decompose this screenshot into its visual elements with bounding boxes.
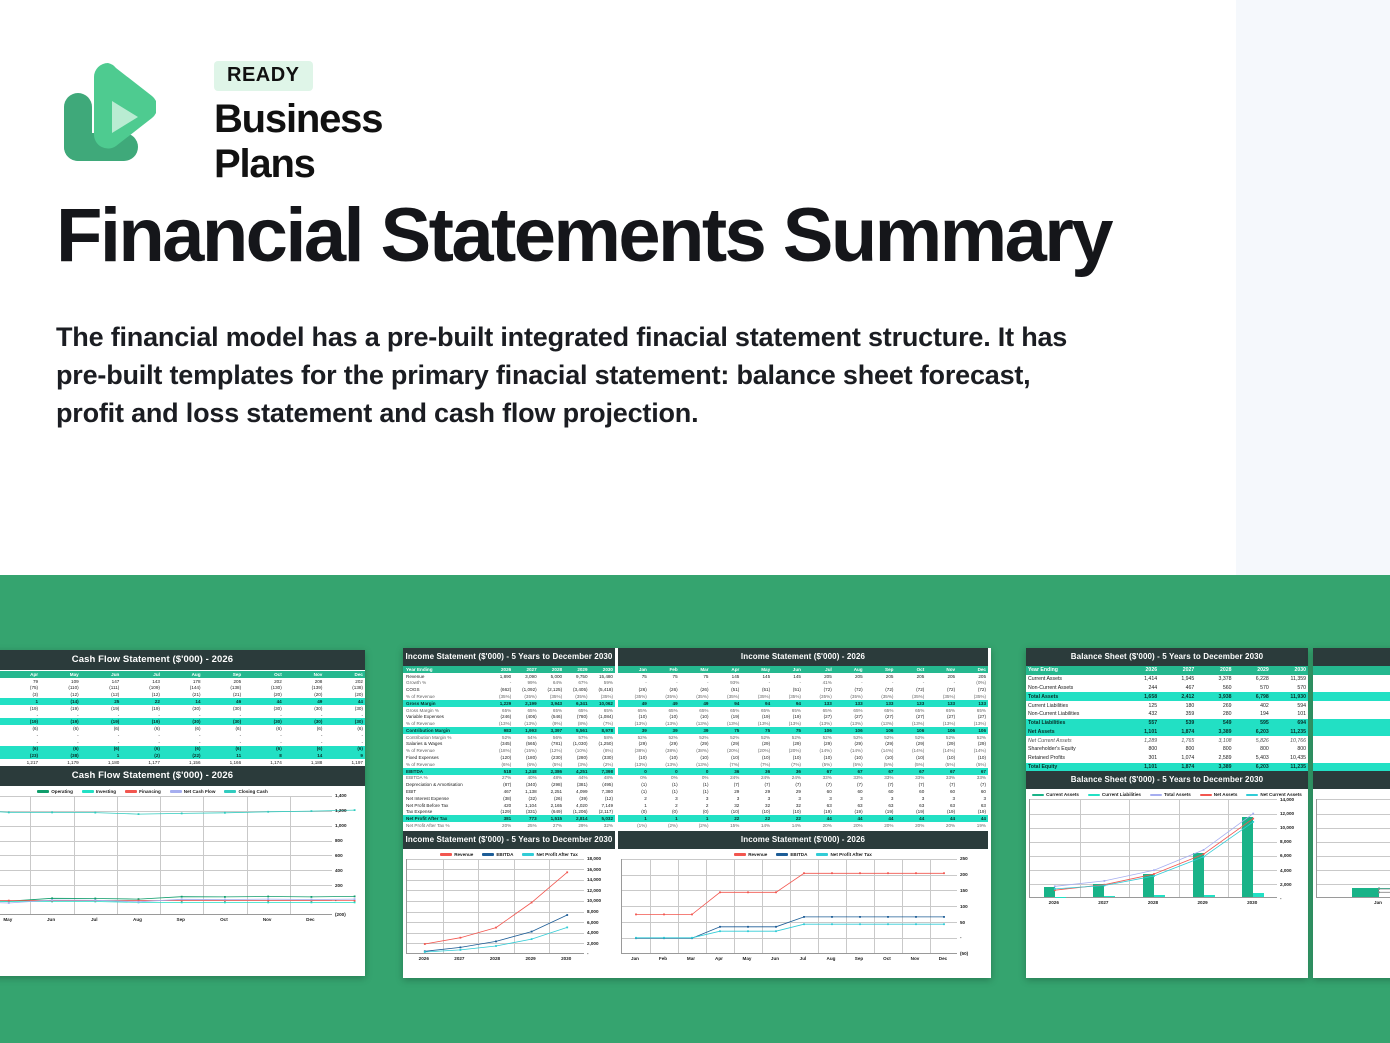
table-cell: 32% xyxy=(590,822,615,829)
table-cell: 3,108 xyxy=(1196,736,1233,745)
row-label: EBIT xyxy=(403,788,488,795)
table-row[interactable]: (10)(10)(10)(19)(19)(19)(27)(27)(27)(27)… xyxy=(618,713,988,720)
row-label: % of Revenue xyxy=(403,720,488,727)
table-cell: 29 xyxy=(710,788,741,795)
y-axis-tick-label: 200 xyxy=(335,883,343,888)
y-axis-tick-label: 2,000 xyxy=(1280,882,1292,887)
legend-swatch xyxy=(82,790,94,793)
table-cell: 67 xyxy=(865,768,896,775)
table-cell: 570 xyxy=(1271,684,1308,693)
table-row[interactable]: (19)(19)(19)(19)(30)(30)(30)(30)(30)(30) xyxy=(0,705,365,712)
table-cell: (0%) xyxy=(957,680,988,687)
row-label: Variable Expenses xyxy=(403,713,488,720)
table-cell: (3,405) xyxy=(564,686,589,693)
chart-marker xyxy=(138,813,140,815)
x-axis-tick-label: Jun xyxy=(761,956,789,961)
legend-label: EBITDA xyxy=(496,852,513,857)
table-cell: - xyxy=(243,739,284,746)
table-row[interactable]: 799798 xyxy=(1313,727,1390,736)
table-row[interactable]: 494949949494133133133133133133 xyxy=(618,700,988,707)
table-cell: 56% xyxy=(539,734,564,741)
y-axis-tick-label: 12,000 xyxy=(1280,811,1294,816)
table-cell: 6,203 xyxy=(1234,763,1271,772)
table-row[interactable]: 1836 xyxy=(1313,684,1390,693)
table-row[interactable]: Net Interest Expense(38)(32)(26)(39)(12) xyxy=(403,795,615,802)
table-cell: (1) xyxy=(680,788,711,795)
row-label: % of Revenue xyxy=(403,761,488,768)
table-row[interactable]: 1,2171,1791,1801,1771,1561,1661,1741,188… xyxy=(0,759,365,766)
column-header: 2029 xyxy=(564,666,589,673)
table-cell: 60 xyxy=(957,788,988,795)
column-header: Sep xyxy=(203,671,244,678)
table-row[interactable]: 52%52%52%52%52%52%52%52%52%52%52%52% xyxy=(618,734,988,741)
table-row[interactable]: Revenue1,8903,0905,0009,75015,480 xyxy=(403,673,615,680)
table-row[interactable]: Net Current Assets1,2891,7653,1085,82610… xyxy=(1026,736,1308,745)
table-row[interactable]: Net Profit After Tax3817731,5152,8145,03… xyxy=(403,815,615,822)
chart-marker xyxy=(747,930,749,932)
table-cell: 205 xyxy=(957,673,988,680)
table-cell: 65% xyxy=(513,707,538,714)
table-row[interactable]: % of Revenue(13%)(13%)(9%)(8%)(7%) xyxy=(403,720,615,727)
table-cell: 10,435 xyxy=(1271,754,1308,763)
table-cell: 63 xyxy=(957,802,988,809)
sheet-title: Cash Flow Statement ($'000) - 2026 xyxy=(0,650,365,670)
table-cell: - xyxy=(40,739,81,746)
table-cell: 65% xyxy=(834,707,865,714)
table-row[interactable]: 1,3411,323 xyxy=(1313,675,1390,684)
table-cell: - xyxy=(81,739,122,746)
table-cell: 20% xyxy=(803,822,834,829)
chart[interactable]: 14,00012,00010,0008,0006,0004,0002,000-2… xyxy=(1029,799,1303,917)
table-cell: (180) xyxy=(513,754,538,761)
legend-label: Net Cash Flow xyxy=(184,789,216,794)
table-cell: (1) xyxy=(1313,754,1390,763)
table-cell: (1) xyxy=(680,781,711,788)
table-row[interactable]: Total Liabilities557539549595694 xyxy=(1026,719,1308,728)
table-cell: 44 xyxy=(834,815,865,822)
table-row[interactable]: EBITDA %27%40%48%44%48% xyxy=(403,775,615,782)
row-label: Retained Profits xyxy=(1026,754,1122,763)
table-row[interactable]: Net Assets1,1011,8743,3896,20311,235 xyxy=(1026,727,1308,736)
chart-series-layer xyxy=(622,859,958,954)
chart-marker xyxy=(859,923,861,925)
table-cell: (0) xyxy=(649,808,680,815)
table-cell: (7) xyxy=(741,781,772,788)
chart-marker xyxy=(803,916,805,918)
table-row[interactable]: Growth %-99%64%67%59% xyxy=(403,680,615,687)
table-cell: 22 xyxy=(710,815,741,822)
table-row[interactable]: 233333333333 xyxy=(618,795,988,802)
legend-swatch xyxy=(37,790,49,793)
table-row[interactable]: (26)(26)(26)(51)(51)(51)(72)(72)(72)(72)… xyxy=(618,686,988,693)
table-row[interactable]: 122323232636363636363 xyxy=(618,802,988,809)
table-cell: 3 xyxy=(649,795,680,802)
brand-logo-block: READY Business Plans xyxy=(56,55,476,163)
row-label: Depreciation & Amortisation xyxy=(403,781,488,788)
table-cell: (780) xyxy=(564,713,589,720)
table-row[interactable]: (3)(12)(12)(12)(21)(21)(20)(20)(20)(19) xyxy=(0,691,365,698)
chart-marker xyxy=(495,926,497,928)
table-cell: (10) xyxy=(710,808,741,815)
table-row[interactable]: % of Revenue(35%)(35%)(35%)(35%)(35%) xyxy=(403,693,615,700)
table-row[interactable]: 65%65%65%65%65%65%65%65%65%65%65%65% xyxy=(618,707,988,714)
table-row[interactable]: 111222222444444444444 xyxy=(618,815,988,822)
sheet-title: Balance Sheet ($'000) - 2026 xyxy=(1313,648,1390,666)
table-cell: 94 xyxy=(710,700,741,707)
table-cell: 75 xyxy=(649,673,680,680)
table-cell: 1,188 xyxy=(284,759,325,766)
table-cell: - xyxy=(649,680,680,687)
table-row[interactable]: EBIT4671,1382,2514,0997,380 xyxy=(403,788,615,795)
financial-table[interactable]: Year Ending20262027202820292030Revenue1,… xyxy=(403,666,615,829)
table-cell: 44 xyxy=(895,815,926,822)
table-cell: (7) xyxy=(926,781,957,788)
table-cell: (6) xyxy=(121,746,162,753)
table-row[interactable]: Total Assets1,6582,4123,9386,79811,930 xyxy=(1026,692,1308,701)
table-row[interactable]: (10)(10)(10)(10)(10)(10)(10)(10)(10)(10)… xyxy=(618,754,988,761)
table-row[interactable]: Tax Expense(129)(331)(649)(1,206)(2,117) xyxy=(403,808,615,815)
table-cell: 180 xyxy=(1159,701,1196,710)
table-row[interactable]: Shareholder's Equity800800800800800 xyxy=(1026,745,1308,754)
table-row[interactable]: 000363636676767676767 xyxy=(618,768,988,775)
table-cell: (29) xyxy=(926,741,957,748)
table-row[interactable]: % of Revenue(18%)(15%)(12%)(10%)(8%) xyxy=(403,747,615,754)
chart-marker xyxy=(495,945,497,947)
table-cell: (35%) xyxy=(649,693,680,700)
table-cell: 49 xyxy=(649,700,680,707)
table-cell: 39 xyxy=(680,727,711,734)
chart-marker xyxy=(8,902,10,904)
table-cell: 205 xyxy=(895,673,926,680)
table-row[interactable]: Variable Expenses(246)(406)(546)(780)(1,… xyxy=(403,713,615,720)
table-cell: (781) xyxy=(539,741,564,748)
table-row[interactable]: ---------- xyxy=(0,739,365,746)
table-cell: 0% xyxy=(680,775,711,782)
table-cell: (6) xyxy=(324,746,365,753)
y-axis-tick-label: 10,000 xyxy=(1280,825,1294,830)
x-axis-tick-label: Dec xyxy=(289,917,332,922)
table-cell: (22) xyxy=(162,752,203,759)
table-cell: - xyxy=(40,732,81,739)
table-cell: (30) xyxy=(203,705,244,712)
table-row[interactable]: 757575145145145205205205205205205 xyxy=(618,673,988,680)
table-cell: 5,032 xyxy=(590,815,615,822)
table-row[interactable]: Total Equity1,1011,8743,3896,20311,235 xyxy=(1026,763,1308,772)
brand-wordmark: READY Business Plans xyxy=(214,61,476,187)
table-cell: (51) xyxy=(772,686,803,693)
y-axis-tick-label: 1,200 xyxy=(335,808,347,813)
table-cell: 41% xyxy=(803,680,834,687)
table-cell: 3,943 xyxy=(539,700,564,707)
table-cell: 32 xyxy=(741,802,772,809)
financial-table[interactable]: AprMayJunJulAugSepOctNovDec7910914714317… xyxy=(0,671,365,766)
table-cell: 1,874 xyxy=(1159,763,1196,772)
table-cell: 20% xyxy=(895,822,926,829)
table-cell: (1,250) xyxy=(590,741,615,748)
table-row[interactable]: ---------- xyxy=(0,732,365,739)
chart-marker xyxy=(531,901,533,903)
table-cell: 145 xyxy=(772,673,803,680)
chart-line xyxy=(1055,819,1253,891)
table-row[interactable]: Gross Margin1,2292,1993,9436,34110,062 xyxy=(403,700,615,707)
chart[interactable]: 14,00012,00010,0008,0006,0004,0002,000-J… xyxy=(1316,799,1390,917)
table-header-row: AprMayJunJulAugSepOctNovDec xyxy=(0,671,365,678)
table-cell: 0 xyxy=(680,768,711,775)
table-cell: (6) xyxy=(243,725,284,732)
table-row[interactable]: Net Profit After Tax %20%25%27%29%32% xyxy=(403,822,615,829)
income-statement-screenshot-panel[interactable]: Income Statement ($'000) - 5 Years to De… xyxy=(403,648,991,978)
x-axis-tick-label: 2026 xyxy=(406,956,442,961)
chart-marker xyxy=(1153,870,1155,872)
table-row[interactable]: Gross Margin %65%65%65%65%65% xyxy=(403,707,615,714)
table-cell: 52% xyxy=(895,734,926,741)
table-cell: 1 xyxy=(81,752,122,759)
chart-legend: Current AssetsCurrent LiabilitiesTotal A… xyxy=(1026,789,1308,798)
table-cell: 2,589 xyxy=(1196,754,1233,763)
chart[interactable]: 18,00016,00014,00012,00010,0008,0006,000… xyxy=(406,859,610,973)
table-cell: - xyxy=(203,739,244,746)
table-cell: (10) xyxy=(618,754,649,761)
table-cell: 27% xyxy=(488,775,513,782)
table-row[interactable]: Fixed Expenses(120)(180)(230)(280)(330) xyxy=(403,754,615,761)
table-row[interactable]: Current Liabilities125180269402594 xyxy=(1026,701,1308,710)
chart[interactable]: 25020015010050-(50)JanFebMarAprMayJunJul… xyxy=(621,859,983,973)
table-cell: - xyxy=(121,712,162,719)
chart-marker xyxy=(1252,813,1254,815)
row-label: EBITDA % xyxy=(403,775,488,782)
table-row[interactable]: 1,3591,359 xyxy=(1313,692,1390,701)
table-cell: 52% xyxy=(834,734,865,741)
row-label: Net Profit After Tax xyxy=(403,815,488,822)
table-cell: (14) xyxy=(40,698,81,705)
table-cell: 57% xyxy=(564,734,589,741)
table-row[interactable]: (0)(0)(0)(10)(10)(10)(19)(19)(19)(19)(19… xyxy=(618,808,988,815)
column-header: Apr xyxy=(710,666,741,673)
table-row[interactable]: Net Profit Before Tax4201,1042,1654,0207… xyxy=(403,802,615,809)
y-axis-tick-label: 250 xyxy=(960,856,968,861)
chart-line xyxy=(0,810,355,815)
table-row[interactable]: 1(14)2522144644494450 xyxy=(0,698,365,705)
table-row[interactable]: 495489 xyxy=(1313,710,1390,719)
column-header: Oct xyxy=(895,666,926,673)
table-cell: 799 xyxy=(1313,727,1390,736)
table-cell: 7,398 xyxy=(590,768,615,775)
table-cell: 1,101 xyxy=(1122,763,1159,772)
table-row[interactable]: 6572 xyxy=(1313,701,1390,710)
table-cell: 44 xyxy=(243,698,284,705)
table-row[interactable]: (35%)(35%)(35%)(35%)(35%)(35%)(35%)(35%)… xyxy=(618,693,988,700)
table-row[interactable]: 1,2751,251 xyxy=(1313,736,1390,745)
x-axis-tick-label: Dec xyxy=(929,956,957,961)
legend-swatch xyxy=(482,853,494,856)
table-cell: 33% xyxy=(834,775,865,782)
legend-item: Total Assets xyxy=(1150,792,1191,797)
chart-plot-area xyxy=(1316,799,1390,898)
chart-marker xyxy=(775,891,777,893)
table-cell: 27% xyxy=(539,822,564,829)
column-header: Aug xyxy=(834,666,865,673)
table-row[interactable]: Salaries & Wages(345)(565)(781)(1,030)(1… xyxy=(403,741,615,748)
table-cell: 94 xyxy=(741,700,772,707)
table-cell: (1,206) xyxy=(564,808,589,815)
table-cell: (29) xyxy=(865,741,896,748)
table-cell: (7) xyxy=(834,781,865,788)
table-row[interactable]: 393939757575106106106106106106 xyxy=(618,727,988,734)
table-row[interactable]: (75)(110)(111)(109)(144)(138)(130)(139)(… xyxy=(0,685,365,692)
balance-sheet-monthly-screenshot-panel[interactable]: Balance Sheet ($'000) - 2026JanFeb1,3411… xyxy=(1313,648,1390,978)
table-row[interactable]: Non-Current Liabilities432359280194101 xyxy=(1026,710,1308,719)
table-cell: 202 xyxy=(243,678,284,685)
table-row[interactable]: (6)(6)(6)(6)(6)(6)(6)(6)(6)(6) xyxy=(0,725,365,732)
table-row[interactable]: % of Revenue(6%)(6%)(5%)(3%)(2%) xyxy=(403,761,615,768)
table-cell: 67 xyxy=(895,768,926,775)
table-cell: 133 xyxy=(957,700,988,707)
row-label: Gross Margin xyxy=(403,700,488,707)
table-row[interactable]: (13%)(13%)(13%)(13%)(13%)(13%)(13%)(13%)… xyxy=(618,720,988,727)
table-row[interactable]: 799798 xyxy=(1313,763,1390,772)
table-cell: 22 xyxy=(121,698,162,705)
table-row[interactable]: (1%)(2%)(2%)15%14%14%20%20%20%20%20%19% xyxy=(618,822,988,829)
table-cell: (13%) xyxy=(741,720,772,727)
table-row[interactable]: (23)(38)1(2)(22)11814914 xyxy=(0,752,365,759)
table-cell: 65% xyxy=(895,707,926,714)
legend-label: EBITDA xyxy=(790,852,807,857)
chart-marker xyxy=(566,914,568,916)
table-cell: 983 xyxy=(488,727,513,734)
financial-table[interactable]: JanFeb1,3411,32318361,3591,3596572495489… xyxy=(1313,666,1390,771)
table-cell: (30) xyxy=(324,718,365,725)
y-axis-tick-label: 200 xyxy=(960,872,968,877)
table-row[interactable]: Contribution Margin9831,9933,3975,5618,9… xyxy=(403,727,615,734)
table-cell: 58% xyxy=(590,734,615,741)
table-cell: 67 xyxy=(834,768,865,775)
table-cell: 60 xyxy=(895,788,926,795)
table-row[interactable]: (19)(19)(19)(19)(30)(30)(30)(30)(30)(30) xyxy=(0,718,365,725)
table-cell: 25 xyxy=(81,698,122,705)
table-cell: - xyxy=(81,732,122,739)
table-row[interactable]: ---93%--41%----(0%) xyxy=(618,680,988,687)
column-header: Apr xyxy=(0,671,40,678)
column-header: Mar xyxy=(680,666,711,673)
table-cell: (13%) xyxy=(680,761,711,768)
table-header-row: Year Ending20262027202820292030 xyxy=(403,666,615,673)
cashflow-screenshot-panel[interactable]: Cash Flow Statement ($'000) - 2026AprMay… xyxy=(0,650,365,976)
table-cell: - xyxy=(895,680,926,687)
table-cell: (20%) xyxy=(710,747,741,754)
hero-right-strip xyxy=(1236,0,1390,575)
table-cell: (10) xyxy=(649,713,680,720)
x-axis-tick-label: Nov xyxy=(901,956,929,961)
table-cell: 75 xyxy=(618,673,649,680)
table-row[interactable]: COGS(662)(1,092)(2,125)(3,405)(5,418) xyxy=(403,686,615,693)
y-axis-tick-label: 6,000 xyxy=(587,920,599,925)
chart-marker xyxy=(267,811,269,813)
financial-table[interactable]: Year Ending20262027202820292030Current A… xyxy=(1026,666,1308,771)
table-row[interactable]: (1)(1)(1)(7)(7)(7)(7)(7)(7)(7)(7)(7) xyxy=(618,781,988,788)
table-row[interactable]: (38%)(38%)(38%)(20%)(20%)(20%)(14%)(14%)… xyxy=(618,747,988,754)
legend-item: Financing xyxy=(125,789,161,794)
table-cell: (19) xyxy=(0,705,40,712)
table-row[interactable]: Non-Current Assets244467560570570 xyxy=(1026,684,1308,693)
row-label: % of Revenue xyxy=(403,747,488,754)
table-cell: 594 xyxy=(1271,701,1308,710)
table-row[interactable]: Depreciation & Amortisation(87)(340)(298… xyxy=(403,781,615,788)
table-cell: - xyxy=(243,712,284,719)
table-row[interactable]: (1)(1)(1)292929606060606060 xyxy=(618,788,988,795)
table-cell: 15% xyxy=(710,822,741,829)
chart-marker xyxy=(51,899,53,901)
table-row[interactable]: (29)(29)(29)(29)(29)(29)(29)(29)(29)(29)… xyxy=(618,741,988,748)
table-cell: 52% xyxy=(680,734,711,741)
table-cell: 133 xyxy=(865,700,896,707)
table-cell: 1,166 xyxy=(203,759,244,766)
table-cell: (26) xyxy=(618,686,649,693)
table-cell: (144) xyxy=(162,685,203,692)
table-row[interactable]: 79109147143178205202208202204 xyxy=(0,678,365,685)
table-cell: (6) xyxy=(121,725,162,732)
table-cell: (20) xyxy=(324,691,365,698)
chart-marker xyxy=(803,923,805,925)
table-cell: (10) xyxy=(649,754,680,761)
table-cell: - xyxy=(81,712,122,719)
table-row[interactable]: Current Assets1,4141,9453,3786,22811,359 xyxy=(1026,675,1308,684)
row-label: Total Liabilities xyxy=(1026,719,1122,728)
table-cell: 359 xyxy=(1159,710,1196,719)
balance-sheet-screenshot-panel[interactable]: Balance Sheet ($'000) - 5 Years to Decem… xyxy=(1026,648,1308,978)
table-row[interactable]: Retained Profits3011,0742,5895,40310,435 xyxy=(1026,754,1308,763)
table-row[interactable]: (1)(2) xyxy=(1313,754,1390,763)
table-cell: (2,125) xyxy=(539,686,564,693)
table-cell: (10) xyxy=(710,754,741,761)
income-monthly-chart-block: Income Statement ($'000) - 2026RevenueEB… xyxy=(618,831,988,975)
chart-marker xyxy=(224,896,226,898)
table-cell: 1 xyxy=(618,815,649,822)
table-cell: 3 xyxy=(710,795,741,802)
table-row[interactable]: (6)(6)(6)(6)(6)(6)(6)(6)(6)(6) xyxy=(0,746,365,753)
table-cell: - xyxy=(618,680,649,687)
table-row[interactable]: (13%)(13%)(13%)(7%)(7%)(7%)(5%)(5%)(5%)(… xyxy=(618,761,988,768)
table-row[interactable]: 800800 xyxy=(1313,745,1390,754)
y-axis-tick-label: 12,000 xyxy=(587,888,601,893)
chart-marker xyxy=(943,872,945,874)
chart-marker xyxy=(943,916,945,918)
table-cell: 106 xyxy=(957,727,988,734)
table-cell: (5%) xyxy=(926,761,957,768)
table-row[interactable]: ---------- xyxy=(0,712,365,719)
table-cell: 15,480 xyxy=(590,673,615,680)
table-row[interactable]: Contribution Margin %52%54%56%57%58% xyxy=(403,734,615,741)
table-cell: (6) xyxy=(203,725,244,732)
table-cell: 773 xyxy=(513,815,538,822)
table-cell: 147 xyxy=(81,678,122,685)
legend-label: Net Assets xyxy=(1214,792,1238,797)
table-cell: 75 xyxy=(772,727,803,734)
table-cell: 36 xyxy=(710,768,741,775)
table-cell: 65% xyxy=(618,707,649,714)
chart-marker xyxy=(531,938,533,940)
table-row[interactable]: 560561 xyxy=(1313,719,1390,728)
table-cell: 65% xyxy=(539,707,564,714)
table-cell: 7,149 xyxy=(590,802,615,809)
table-cell: 24% xyxy=(741,775,772,782)
chart-marker xyxy=(8,900,10,902)
table-row[interactable]: EBITDA5181,2482,3864,2517,398 xyxy=(403,768,615,775)
table-cell: 3,090 xyxy=(513,673,538,680)
chart[interactable]: 1,4001,2001,000800600400200-(200)AprMayJ… xyxy=(0,796,358,934)
table-row[interactable]: 0%0%0%24%24%24%33%33%33%33%33%33% xyxy=(618,775,988,782)
table-cell: 799 xyxy=(1313,763,1390,772)
financial-table[interactable]: JanFebMarAprMayJunJulAugSepOctNovDec7575… xyxy=(618,666,988,829)
